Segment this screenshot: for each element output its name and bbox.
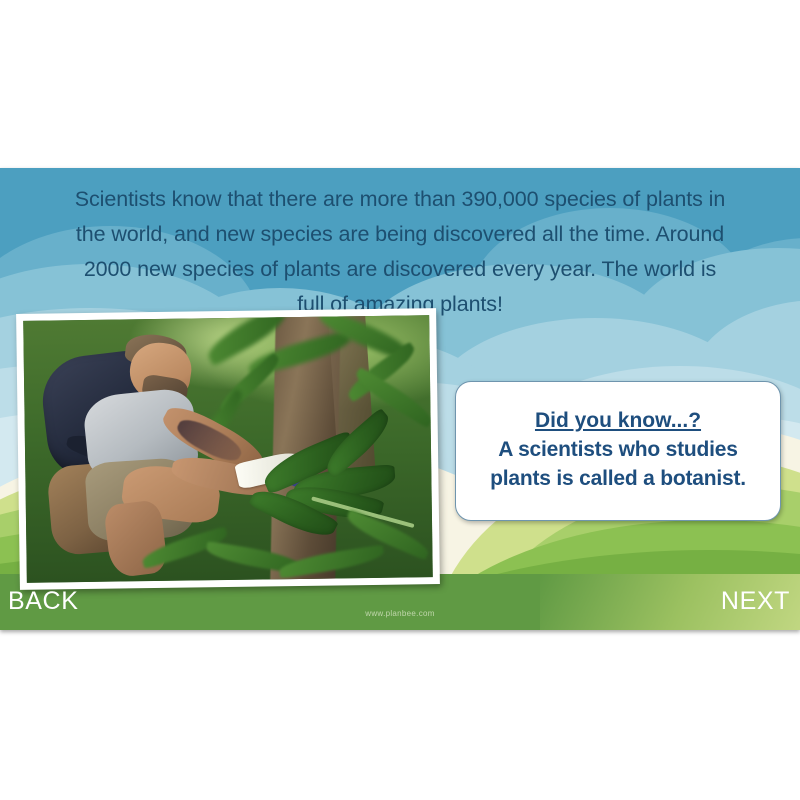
did-you-know-body: A scientists who studies plants is calle… (490, 435, 746, 493)
slide-body-text: Scientists know that there are more than… (8, 176, 792, 322)
photo-frame (16, 308, 440, 590)
did-you-know-box: Did you know...? A scientists who studie… (455, 381, 781, 521)
lesson-slide: Scientists know that there are more than… (0, 168, 800, 630)
botanist-photo (23, 315, 433, 583)
did-you-know-title: Did you know...? (535, 407, 701, 435)
page-canvas: Scientists know that there are more than… (0, 0, 800, 800)
watermark: www.planbee.com (0, 609, 800, 618)
